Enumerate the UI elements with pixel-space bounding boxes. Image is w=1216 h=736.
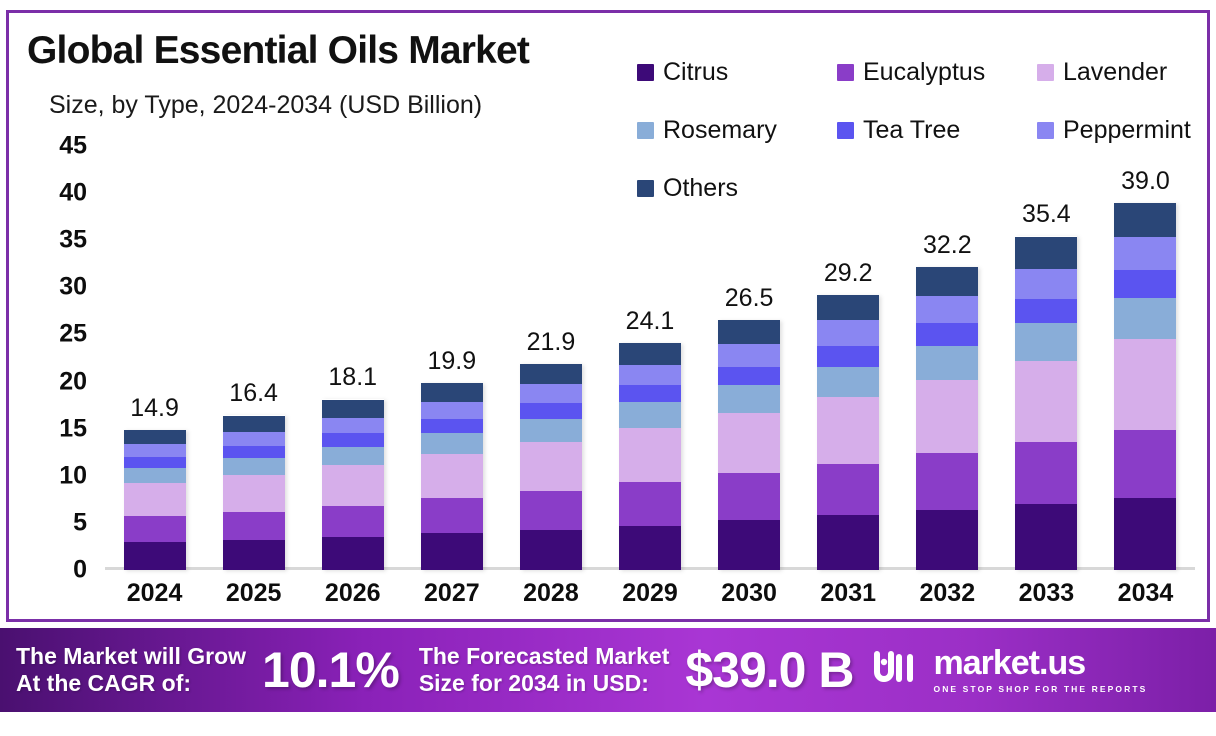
bar-segment-lavender[interactable] <box>223 475 285 512</box>
bar-segment-rosemary[interactable] <box>916 346 978 380</box>
x-axis-label-2029: 2029 <box>600 579 699 608</box>
bar-segment-peppermint[interactable] <box>916 296 978 323</box>
x-axis-label-2032: 2032 <box>898 579 997 608</box>
bar-segment-lavender[interactable] <box>1015 361 1077 442</box>
bar-segment-eucalyptus[interactable] <box>817 464 879 516</box>
bar-segment-rosemary[interactable] <box>223 458 285 475</box>
y-axis-tick: 5 <box>6 508 87 537</box>
bar-segment-lavender[interactable] <box>916 380 978 453</box>
legend-swatch-icon <box>637 64 654 81</box>
bar-group: 14.916.418.119.921.924.126.529.232.235.4… <box>105 146 1195 570</box>
stacked-bar[interactable] <box>1114 203 1176 570</box>
x-axis-label-2027: 2027 <box>402 579 501 608</box>
bar-segment-tea-tree[interactable] <box>124 457 186 468</box>
logo-tagline: ONE STOP SHOP FOR THE REPORTS <box>933 684 1147 694</box>
stacked-bar[interactable] <box>1015 236 1077 570</box>
legend-label: Eucalyptus <box>863 60 985 85</box>
bar-total-label: 39.0 <box>1096 167 1195 196</box>
bar-segment-peppermint[interactable] <box>1114 237 1176 270</box>
legend-row: CitrusEucalyptusLavender <box>637 43 1207 101</box>
bar-segment-peppermint[interactable] <box>520 384 582 403</box>
legend-item-rosemary[interactable]: Rosemary <box>637 118 837 143</box>
bar-segment-others[interactable] <box>619 343 681 365</box>
legend-label: Lavender <box>1063 60 1167 85</box>
bar-column-2026[interactable]: 18.1 <box>303 146 402 570</box>
bar-segment-eucalyptus[interactable] <box>124 516 186 541</box>
y-axis-tick: 35 <box>6 226 87 255</box>
bar-segment-eucalyptus[interactable] <box>619 482 681 525</box>
forecast-label-line2: Size for 2034 in USD: <box>419 670 670 697</box>
bar-total-label: 35.4 <box>997 200 1096 229</box>
plot-area: 454035302520151050 14.916.418.119.921.92… <box>105 146 1195 570</box>
bar-segment-lavender[interactable] <box>322 465 384 506</box>
cagr-label-line2: At the CAGR of: <box>16 670 246 697</box>
bar-segment-citrus[interactable] <box>520 530 582 571</box>
bar-segment-others[interactable] <box>124 430 186 444</box>
bar-segment-tea-tree[interactable] <box>1015 299 1077 323</box>
stacked-bar[interactable] <box>223 415 285 570</box>
bar-segment-eucalyptus[interactable] <box>421 498 483 533</box>
legend-item-lavender[interactable]: Lavender <box>1037 60 1207 85</box>
market-us-logo[interactable]: market.us ONE STOP SHOP FOR THE REPORTS <box>871 646 1147 694</box>
bar-total-label: 21.9 <box>501 328 600 357</box>
chart-subtitle: Size, by Type, 2024-2034 (USD Billion) <box>49 91 482 120</box>
bar-segment-citrus[interactable] <box>322 537 384 570</box>
y-axis-tick: 15 <box>6 414 87 443</box>
bar-column-2034[interactable]: 39.0 <box>1096 146 1195 570</box>
legend-swatch-icon <box>1037 122 1054 139</box>
y-axis-tick: 40 <box>6 179 87 208</box>
stacked-bar[interactable] <box>718 320 780 570</box>
cagr-value: 10.1% <box>262 641 399 699</box>
footer-banner: The Market will Grow At the CAGR of: 10.… <box>0 628 1216 712</box>
x-axis-label-2034: 2034 <box>1096 579 1195 608</box>
market-us-logo-icon <box>871 648 923 693</box>
bar-segment-tea-tree[interactable] <box>322 433 384 446</box>
bar-segment-citrus[interactable] <box>1015 504 1077 570</box>
bar-segment-eucalyptus[interactable] <box>1114 430 1176 499</box>
legend-label: Citrus <box>663 60 728 85</box>
cagr-label-line1: The Market will Grow <box>16 643 246 670</box>
bar-segment-lavender[interactable] <box>520 442 582 491</box>
bar-total-label: 14.9 <box>105 394 204 423</box>
page-title: Global Essential Oils Market <box>27 29 529 73</box>
bar-segment-others[interactable] <box>421 383 483 403</box>
bar-segment-citrus[interactable] <box>124 542 186 570</box>
bar-segment-eucalyptus[interactable] <box>718 473 780 520</box>
x-axis-label-2028: 2028 <box>501 579 600 608</box>
bar-segment-lavender[interactable] <box>619 428 681 483</box>
bar-total-label: 29.2 <box>799 259 898 288</box>
x-axis-label-2026: 2026 <box>303 579 402 608</box>
legend-label: Peppermint <box>1063 118 1191 143</box>
forecast-label: The Forecasted Market Size for 2034 in U… <box>419 643 670 697</box>
bar-total-label: 24.1 <box>600 307 699 336</box>
logo-wordmark: market.us <box>933 646 1147 680</box>
bar-total-label: 26.5 <box>700 284 799 313</box>
chart-page: Global Essential Oils Market Size, by Ty… <box>0 0 1216 736</box>
bar-segment-peppermint[interactable] <box>124 444 186 457</box>
bar-segment-eucalyptus[interactable] <box>916 453 978 510</box>
bar-total-label: 16.4 <box>204 379 303 408</box>
legend-item-peppermint[interactable]: Peppermint <box>1037 118 1207 143</box>
y-axis-tick: 45 <box>6 132 87 161</box>
y-axis-tick: 10 <box>6 461 87 490</box>
bar-segment-lavender[interactable] <box>718 413 780 473</box>
stacked-bar[interactable] <box>619 343 681 570</box>
bar-segment-lavender[interactable] <box>817 397 879 464</box>
bar-segment-tea-tree[interactable] <box>619 385 681 402</box>
bar-segment-others[interactable] <box>223 416 285 432</box>
bar-segment-citrus[interactable] <box>421 533 483 570</box>
x-axis-label-2025: 2025 <box>204 579 303 608</box>
bar-segment-tea-tree[interactable] <box>817 346 879 367</box>
bar-column-2024[interactable]: 14.9 <box>105 146 204 570</box>
bar-segment-peppermint[interactable] <box>1015 269 1077 299</box>
bar-segment-others[interactable] <box>1114 203 1176 238</box>
bar-segment-citrus[interactable] <box>1114 498 1176 570</box>
bar-segment-rosemary[interactable] <box>520 419 582 442</box>
bar-segment-tea-tree[interactable] <box>916 323 978 346</box>
bar-segment-others[interactable] <box>1015 237 1077 269</box>
bar-total-label: 19.9 <box>402 347 501 376</box>
bar-column-2028[interactable]: 21.9 <box>501 146 600 570</box>
legend-swatch-icon <box>637 122 654 139</box>
bar-segment-citrus[interactable] <box>718 520 780 570</box>
bar-segment-rosemary[interactable] <box>124 468 186 483</box>
stacked-bar[interactable] <box>520 364 582 570</box>
legend-label: Tea Tree <box>863 118 960 143</box>
bar-segment-others[interactable] <box>520 364 582 385</box>
legend-label: Rosemary <box>663 118 777 143</box>
y-axis-tick: 0 <box>6 556 87 585</box>
bar-column-2029[interactable]: 24.1 <box>600 146 699 570</box>
bar-segment-tea-tree[interactable] <box>520 403 582 419</box>
bar-segment-rosemary[interactable] <box>718 385 780 412</box>
bar-column-2025[interactable]: 16.4 <box>204 146 303 570</box>
legend-swatch-icon <box>1037 64 1054 81</box>
bar-segment-others[interactable] <box>817 295 879 320</box>
bar-column-2031[interactable]: 29.2 <box>799 146 898 570</box>
stacked-bar[interactable] <box>322 399 384 570</box>
bar-segment-citrus[interactable] <box>916 510 978 570</box>
bar-segment-tea-tree[interactable] <box>223 446 285 458</box>
forecast-label-line1: The Forecasted Market <box>419 643 670 670</box>
stacked-bar[interactable] <box>817 295 879 570</box>
bar-segment-tea-tree[interactable] <box>421 419 483 433</box>
bar-column-2027[interactable]: 19.9 <box>402 146 501 570</box>
bar-segment-peppermint[interactable] <box>718 344 780 367</box>
stacked-bar[interactable] <box>421 383 483 571</box>
legend-item-tea-tree[interactable]: Tea Tree <box>837 118 1037 143</box>
forecast-value: $39.0 B <box>685 641 853 699</box>
bar-segment-lavender[interactable] <box>421 454 483 498</box>
bar-segment-rosemary[interactable] <box>322 447 384 466</box>
bar-segment-others[interactable] <box>718 320 780 344</box>
stacked-bar[interactable] <box>124 430 186 570</box>
bar-segment-tea-tree[interactable] <box>1114 270 1176 297</box>
bar-segment-eucalyptus[interactable] <box>223 512 285 540</box>
bar-segment-rosemary[interactable] <box>421 433 483 454</box>
legend-item-citrus[interactable]: Citrus <box>637 60 837 85</box>
x-axis-label-2033: 2033 <box>997 579 1096 608</box>
x-axis-label-2024: 2024 <box>105 579 204 608</box>
bar-column-2030[interactable]: 26.5 <box>700 146 799 570</box>
x-axis-labels: 2024202520262027202820292030203120322033… <box>105 579 1195 608</box>
bar-segment-others[interactable] <box>322 400 384 419</box>
bar-segment-peppermint[interactable] <box>322 418 384 433</box>
bar-segment-peppermint[interactable] <box>817 320 879 345</box>
bar-column-2033[interactable]: 35.4 <box>997 146 1096 570</box>
bar-segment-eucalyptus[interactable] <box>520 491 582 530</box>
legend-swatch-icon <box>837 64 854 81</box>
stacked-bar[interactable] <box>916 267 978 570</box>
legend-item-eucalyptus[interactable]: Eucalyptus <box>837 60 1037 85</box>
logo-text: market.us ONE STOP SHOP FOR THE REPORTS <box>933 646 1147 694</box>
bar-segment-citrus[interactable] <box>817 515 879 570</box>
y-axis-tick: 30 <box>6 273 87 302</box>
bar-segment-lavender[interactable] <box>124 483 186 516</box>
bar-column-2032[interactable]: 32.2 <box>898 146 997 570</box>
bar-total-label: 32.2 <box>898 231 997 260</box>
bar-segment-rosemary[interactable] <box>1114 298 1176 339</box>
bar-segment-peppermint[interactable] <box>619 365 681 386</box>
bar-segment-peppermint[interactable] <box>223 432 285 446</box>
bar-segment-eucalyptus[interactable] <box>1015 442 1077 504</box>
chart-card: Global Essential Oils Market Size, by Ty… <box>6 10 1210 622</box>
bar-segment-others[interactable] <box>916 267 978 296</box>
bar-segment-eucalyptus[interactable] <box>322 506 384 537</box>
bar-segment-peppermint[interactable] <box>421 402 483 419</box>
bar-segment-citrus[interactable] <box>223 540 285 570</box>
bar-segment-rosemary[interactable] <box>817 367 879 397</box>
x-axis-label-2030: 2030 <box>700 579 799 608</box>
bar-segment-citrus[interactable] <box>619 526 681 570</box>
bar-segment-rosemary[interactable] <box>619 402 681 427</box>
y-axis-tick: 20 <box>6 367 87 396</box>
legend-swatch-icon <box>837 122 854 139</box>
bar-segment-tea-tree[interactable] <box>718 367 780 386</box>
y-axis-tick: 25 <box>6 320 87 349</box>
bar-total-label: 18.1 <box>303 363 402 392</box>
x-axis-label-2031: 2031 <box>799 579 898 608</box>
bar-segment-lavender[interactable] <box>1114 339 1176 429</box>
cagr-label: The Market will Grow At the CAGR of: <box>16 643 246 697</box>
bar-segment-rosemary[interactable] <box>1015 323 1077 361</box>
